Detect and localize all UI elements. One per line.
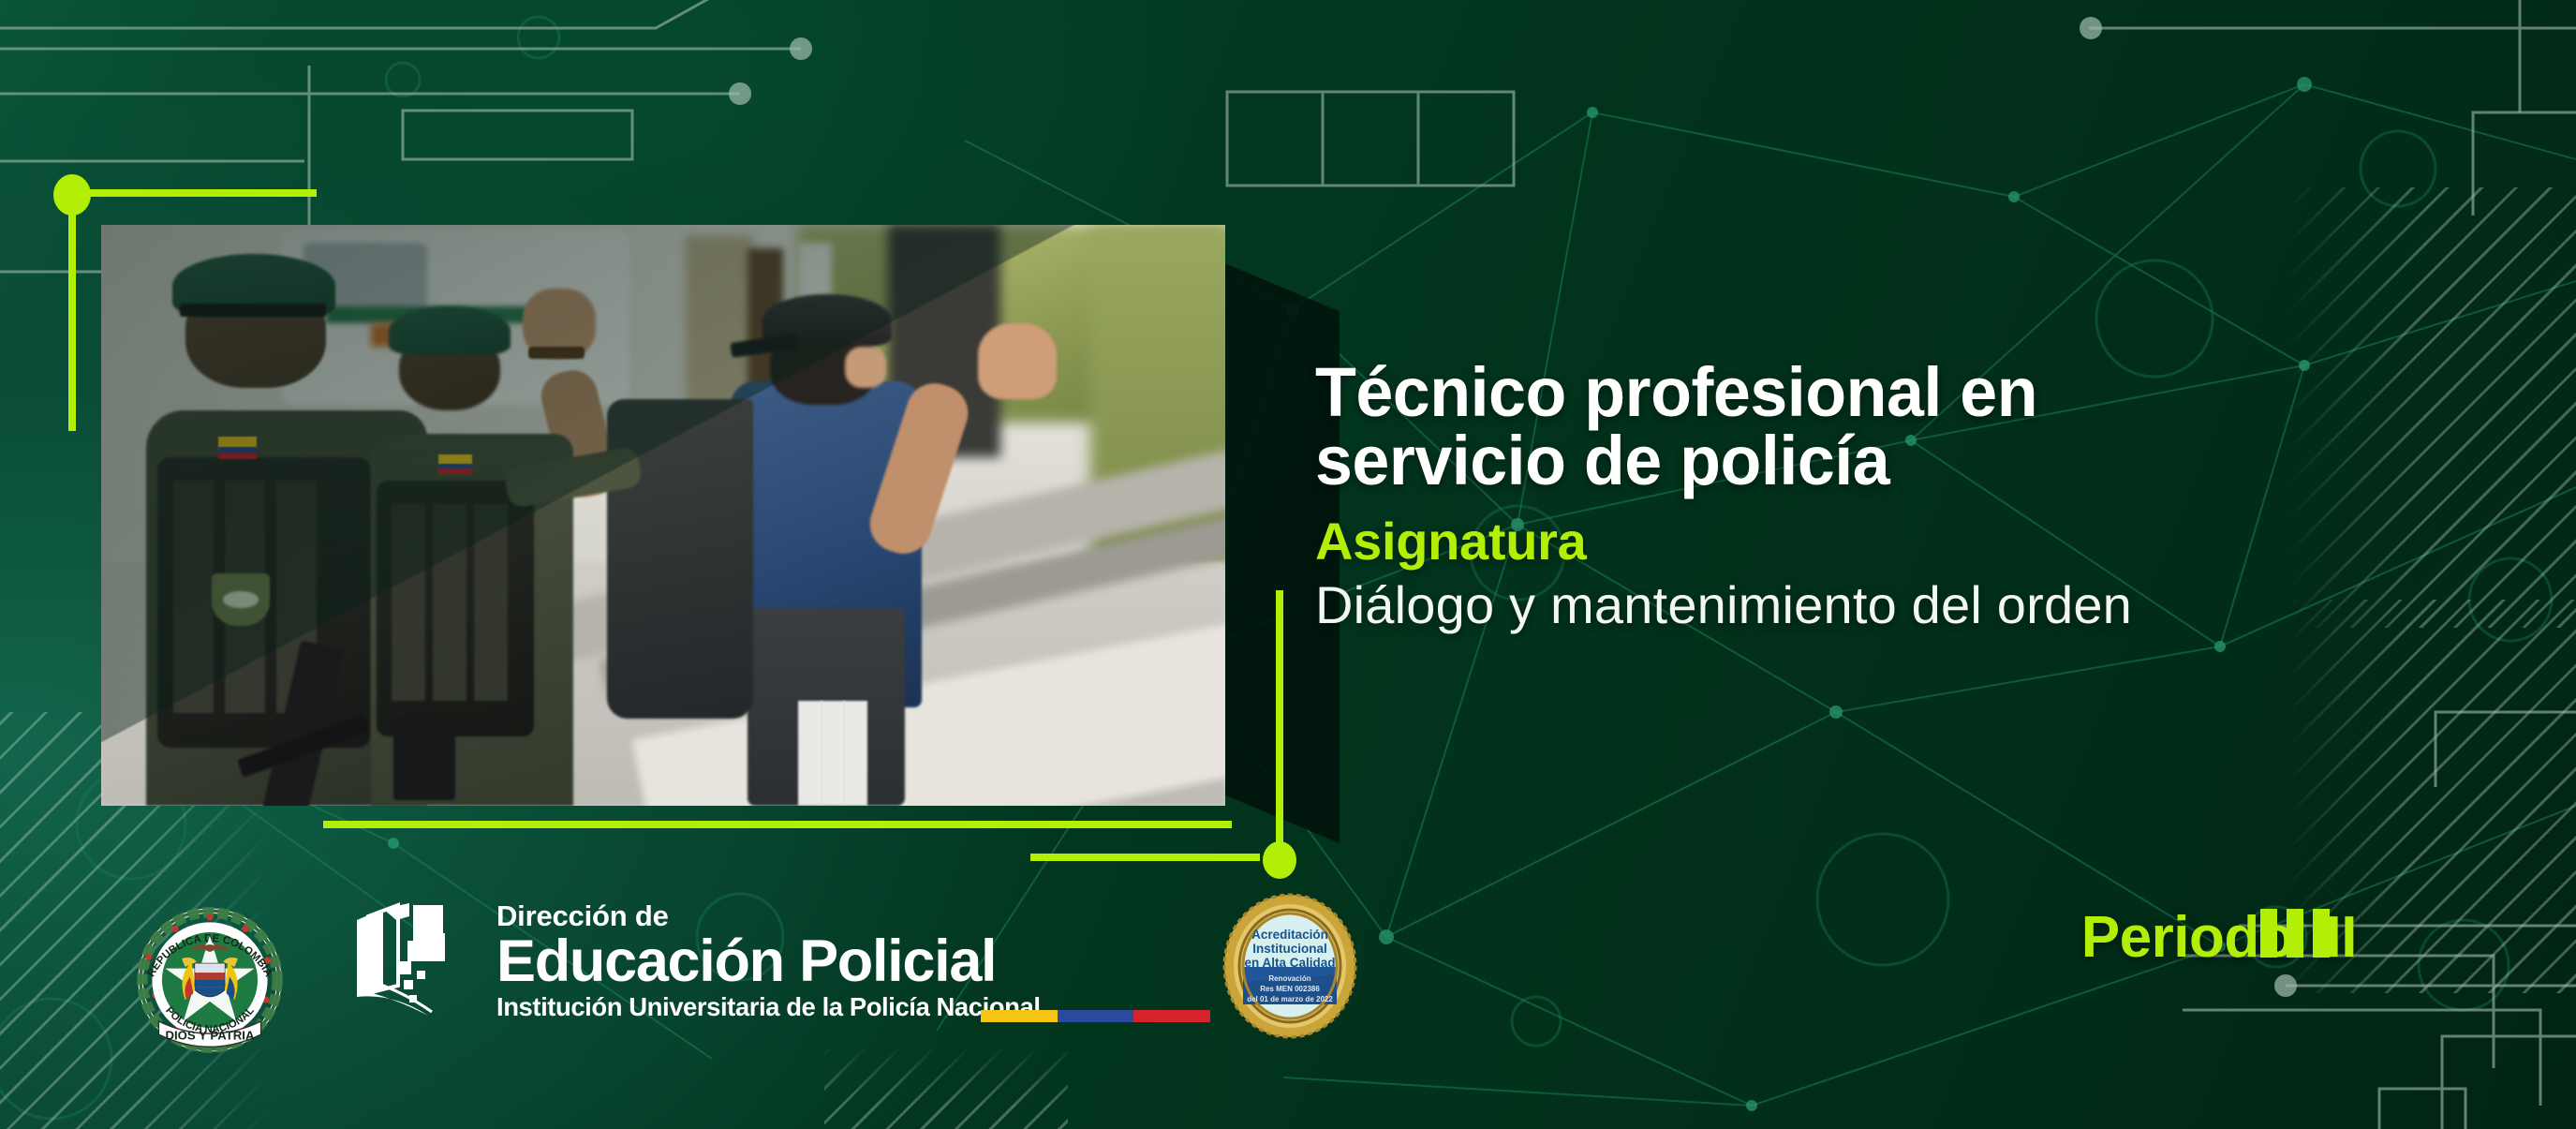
course-banner: Técnico profesional en servicio de polic… xyxy=(0,0,2576,1129)
seal-line-1: Acreditación xyxy=(1251,928,1328,942)
lime-line-under-photo xyxy=(323,821,1232,828)
educacion-policial-logo: Dirección de Educación Policial Instituc… xyxy=(351,895,1041,1026)
lime-bar-1 xyxy=(2260,909,2277,958)
colombia-tricolor-bar xyxy=(981,1010,1210,1022)
lime-bar-2 xyxy=(2287,909,2303,958)
seal-sub-1: Renovación xyxy=(1268,974,1310,983)
open-book-pixel-mark xyxy=(351,899,487,1021)
seal-line-2: Institucional xyxy=(1252,942,1327,956)
program-title-line-2: servicio de policía xyxy=(1315,427,2496,496)
institution-line-2: Educación Policial xyxy=(496,931,1041,991)
shield-ribbon-text: DIOS Y PATRIA xyxy=(165,1028,254,1042)
lime-bar-3 xyxy=(2313,909,2330,958)
program-title-line-1: Técnico profesional en xyxy=(1315,359,2496,427)
lime-line-left-vertical xyxy=(68,201,76,431)
institution-line-3: Institución Universitaria de la Policía … xyxy=(496,994,1041,1020)
lime-line-right-vertical xyxy=(1276,590,1283,854)
lime-line-top xyxy=(84,189,317,197)
title-block: Técnico profesional en servicio de polic… xyxy=(1315,359,2533,637)
seal-sub-2: Res MEN 002386 xyxy=(1260,985,1320,993)
lime-line-bottom-short xyxy=(1030,854,1260,861)
policia-nacional-shield: REPUBLICA DE COLOMBIA POLICIA NACIONAL D… xyxy=(127,898,292,1062)
hatch-lines-bottom-mid xyxy=(824,1045,1068,1129)
hero-photo xyxy=(101,225,1225,806)
seal-sub-3: del 01 de marzo de 2022 xyxy=(1247,995,1333,1003)
institution-line-1: Dirección de xyxy=(496,901,1041,930)
seal-line-3: en Alta Calidad xyxy=(1244,956,1335,970)
accreditation-seal: Acreditación Institucional en Alta Calid… xyxy=(1220,892,1360,1040)
subject-name: Diálogo y mantenimiento del orden xyxy=(1315,573,2533,636)
subject-label: Asignatura xyxy=(1315,512,2533,572)
